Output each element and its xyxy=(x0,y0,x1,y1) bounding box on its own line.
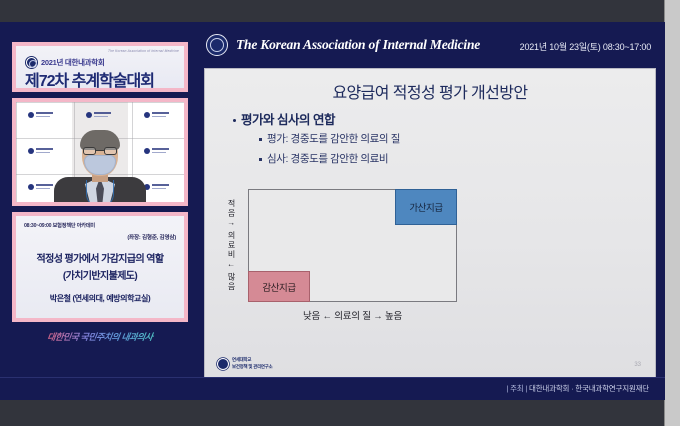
kaim-wall-logo-icon xyxy=(86,112,112,119)
kaim-wall-logo-icon xyxy=(144,184,170,191)
chart-quadrant-bonus: 가산지급 xyxy=(395,189,457,225)
bullet-square-icon xyxy=(259,158,262,161)
session-info-card: 08:30~09:00 보험정책단 아카데미 (좌장: 김형준, 김영삼) 적정… xyxy=(12,212,188,322)
chart-quadrant-penalty-label: 감산지급 xyxy=(262,280,295,294)
kaim-logo-icon xyxy=(206,34,228,56)
chart-y-axis-text: 적음 ↑ 의료비 ↓ 많음 xyxy=(227,199,235,291)
association-header-bar: The Korean Association of Internal Medic… xyxy=(196,22,665,68)
slide-area: The Korean Association of Internal Medic… xyxy=(196,22,665,400)
slide-bullet-text: 평가: 경중도를 감안한 의료의 질 xyxy=(267,133,400,145)
host-names: 대한내과학회 · 한국내과학연구지원재단 xyxy=(529,384,649,393)
slide-footer-logo-text: 연세대학교 보건정책 및 관리연구소 xyxy=(232,357,272,370)
footer-logo-line1: 연세대학교 xyxy=(232,357,251,362)
slide-bullet-level2: 평가: 경중도를 감안한 의료의 질 xyxy=(259,131,400,146)
conference-banner: The Korean Association of Internal Medic… xyxy=(12,42,188,92)
session-title-line1: 적정성 평가에서 가감지급의 역할 xyxy=(24,250,176,265)
session-info-inner: 08:30~09:00 보험정책단 아카데미 (좌장: 김형준, 김영삼) 적정… xyxy=(16,216,184,318)
kaim-wall-logo-icon xyxy=(144,112,170,119)
left-info-rail: The Korean Association of Internal Medic… xyxy=(0,22,196,400)
video-footer-bar: | 주최 | 대한내과학회 · 한국내과학연구지원재단 xyxy=(0,377,665,400)
kaim-wall-logo-icon xyxy=(28,184,54,191)
slide-bullet-text: 심사: 경중도를 감안한 의료비 xyxy=(267,153,388,165)
speaker-glasses-icon xyxy=(83,147,117,155)
footer-logo-line2: 보건정책 및 관리연구소 xyxy=(232,364,272,369)
slide-footer-logo: 연세대학교 보건정책 및 관리연구소 xyxy=(217,357,272,370)
chart-quadrant-bonus-label: 가산지급 xyxy=(409,200,442,214)
session-title-line2: (가치기반지불제도) xyxy=(24,267,176,282)
slide-bullet-text: 평가와 심사의 연합 xyxy=(241,113,335,127)
session-time: 08:30~09:00 보험정책단 아카데미 xyxy=(24,222,176,229)
page-scrollbar-strip[interactable] xyxy=(664,0,680,426)
association-name: The Korean Association of Internal Medic… xyxy=(236,37,480,53)
chart-plot-area: 가산지급 감산지급 xyxy=(248,189,457,302)
yonsei-seal-icon xyxy=(217,358,229,370)
bullet-dot-icon xyxy=(233,119,236,122)
kaim-wall-logo-icon xyxy=(28,112,54,119)
association-slogan: 대한민국 국민주치의 내과의사 xyxy=(11,330,189,343)
speaker-camera-feed xyxy=(16,102,184,202)
chart-x-axis-label: 낮음 ← 의료의 질 → 높음 xyxy=(248,308,457,322)
video-player: The Korean Association of Internal Medic… xyxy=(0,0,680,426)
bullet-square-icon xyxy=(259,138,262,141)
chart-y-axis-label: 적음 ↑ 의료비 ↓ 많음 xyxy=(223,189,239,302)
video-viewport[interactable]: The Korean Association of Internal Medic… xyxy=(0,22,665,400)
host-prefix: | 주최 | xyxy=(506,384,527,393)
kaim-wall-logo-icon xyxy=(144,148,170,155)
slide-page-number: 33 xyxy=(634,362,641,368)
speaker-figure xyxy=(54,132,146,202)
session-speaker: 박은철 (연세의대, 예방의학교실) xyxy=(24,293,176,304)
slide-title: 요양급여 적정성 평가 개선방안 xyxy=(205,79,655,103)
slide-bullet-level1: 평가와 심사의 연합 xyxy=(233,109,335,128)
conference-date: 2021년 10월 23일(토) 08:30~17:00 xyxy=(520,40,651,53)
slide-bullet-level2: 심사: 경중도를 감안한 의료비 xyxy=(259,151,388,166)
chart-quadrant-penalty: 감산지급 xyxy=(248,271,310,302)
speaker-lanyard xyxy=(86,180,114,202)
conference-banner-inner: The Korean Association of Internal Medic… xyxy=(16,46,184,88)
speaker-camera-frame xyxy=(12,98,188,206)
presentation-slide[interactable]: 요양급여 적정성 평가 개선방안 평가와 심사의 연합 평가: 경중도를 감안한… xyxy=(204,68,656,378)
banner-english-subtitle: The Korean Association of Internal Medic… xyxy=(108,49,179,53)
session-chair: (좌장: 김형준, 김영삼) xyxy=(24,233,176,241)
chart-x-axis-text: 낮음 ← 의료의 질 → 높음 xyxy=(303,311,402,322)
kaim-wall-logo-icon xyxy=(28,148,54,155)
banner-main-title: 제72차 추계학술대회 xyxy=(25,67,154,91)
host-credit: | 주최 | 대한내과학회 · 한국내과학연구지원재단 xyxy=(506,383,649,394)
